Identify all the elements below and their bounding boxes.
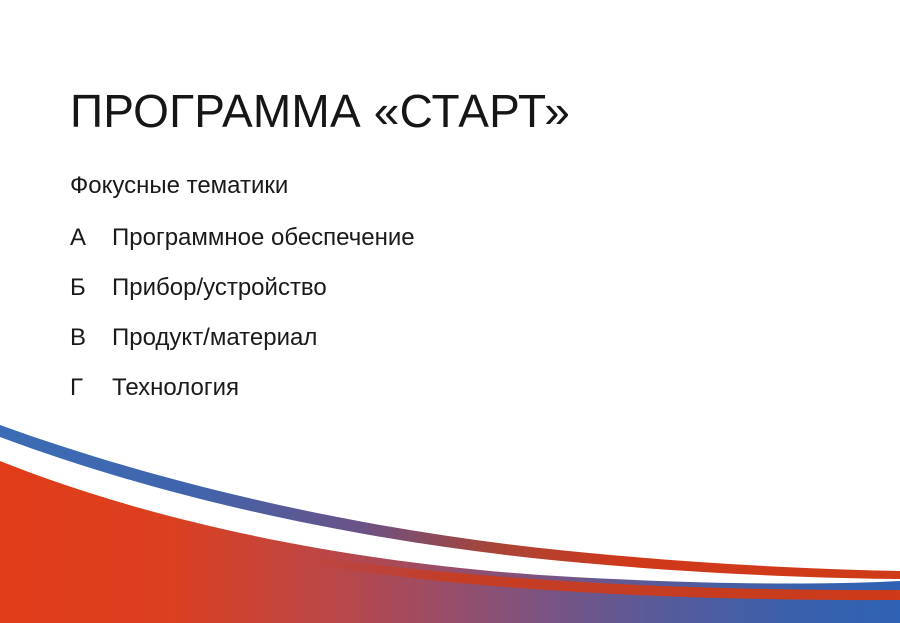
wave-stripe-shape (0, 425, 900, 579)
wave-ribbon-decoration (0, 403, 900, 623)
subheading: Фокусные тематики (70, 174, 830, 198)
list-item-label: Технология (112, 374, 239, 402)
list-item-marker: В (70, 324, 112, 352)
slide: ПРОГРАММА «СТАРТ» Фокусные тематики А Пр… (0, 0, 900, 623)
list-item-label: Прибор/устройство (112, 274, 327, 302)
wave-ribbon-graphic (0, 403, 900, 623)
list-item-label: Программное обеспечение (112, 224, 415, 252)
wave-mass-shape (0, 461, 900, 623)
list-item-marker: А (70, 224, 112, 252)
list-item-marker: Б (70, 274, 112, 302)
list-item: Б Прибор/устройство (70, 274, 830, 324)
list-item: А Программное обеспечение (70, 224, 830, 274)
list-item-label: Продукт/материал (112, 324, 317, 352)
wave-inner-stripe-shape (300, 555, 900, 600)
page-title: ПРОГРАММА «СТАРТ» (70, 85, 570, 138)
list-item: Г Технология (70, 374, 830, 424)
focus-topics-list: А Программное обеспечение Б Прибор/устро… (70, 224, 830, 424)
list-item-marker: Г (70, 374, 112, 402)
content-block: Фокусные тематики А Программное обеспече… (70, 174, 830, 424)
list-item: В Продукт/материал (70, 324, 830, 374)
